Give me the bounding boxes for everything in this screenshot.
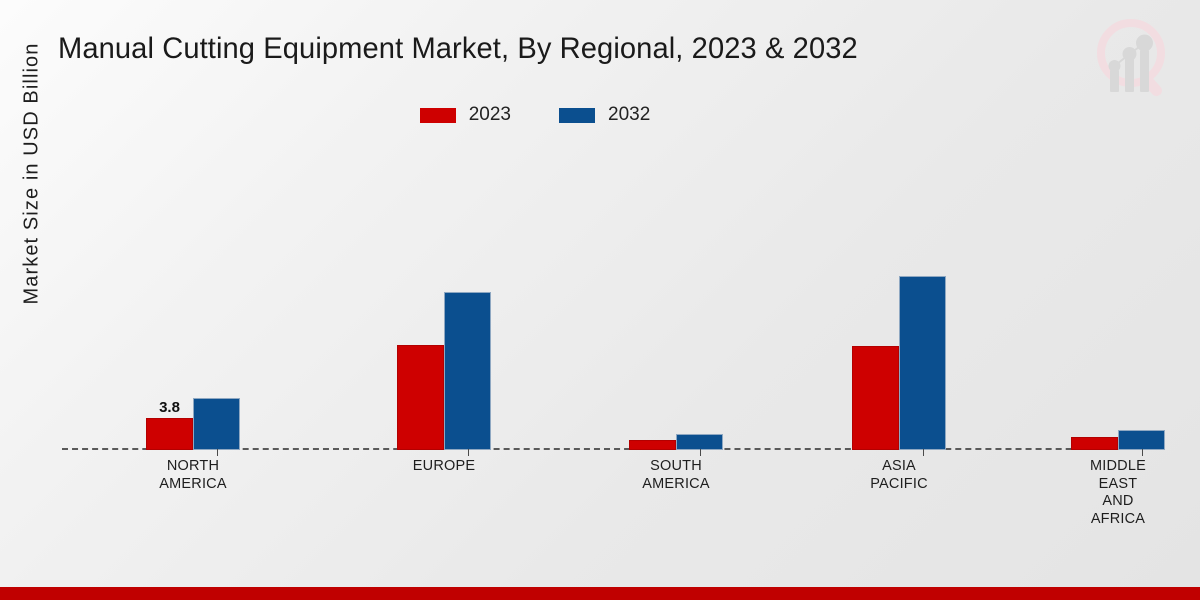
category-line: AFRICA bbox=[1091, 511, 1145, 527]
y-axis-title: Market Size in USD Billion bbox=[21, 4, 44, 344]
bar-group-bars: 3.8 bbox=[98, 150, 288, 450]
axis-tick bbox=[468, 449, 469, 456]
axis-tick bbox=[700, 449, 701, 456]
bar-group-bars bbox=[349, 150, 539, 450]
chart-title: Manual Cutting Equipment Market, By Regi… bbox=[58, 32, 858, 66]
category-label-middle-east-and-africa: MIDDLE EAST AND AFRICA bbox=[1023, 458, 1200, 528]
legend-swatch-2032 bbox=[559, 108, 595, 123]
bar-group-bars bbox=[804, 150, 994, 450]
category-line: PACIFIC bbox=[870, 476, 928, 492]
chart-legend: 2023 2032 bbox=[0, 104, 1200, 126]
legend-item-2032[interactable]: 2032 bbox=[559, 104, 650, 126]
category-line: EAST bbox=[1099, 476, 1138, 492]
bar-middle-east-and-africa-2023[interactable] bbox=[1071, 437, 1118, 450]
category-line: ASIA bbox=[882, 458, 916, 474]
bar-north-america-2032[interactable] bbox=[193, 398, 240, 450]
bar-north-america-2023[interactable]: 3.8 bbox=[146, 418, 193, 450]
category-line: NORTH bbox=[167, 458, 219, 474]
category-line: AMERICA bbox=[642, 476, 709, 492]
bar-group-bars bbox=[1023, 150, 1200, 450]
bar-south-america-2032[interactable] bbox=[676, 434, 723, 450]
legend-label-2032: 2032 bbox=[608, 104, 650, 126]
axis-tick bbox=[923, 449, 924, 456]
chart-figure: Manual Cutting Equipment Market, By Regi… bbox=[0, 0, 1200, 600]
legend-label-2023: 2023 bbox=[469, 104, 511, 126]
bar-group-europe: EUROPE bbox=[349, 150, 539, 450]
category-line: EUROPE bbox=[413, 458, 475, 474]
watermark-logo bbox=[1084, 8, 1188, 112]
bar-group-asia-pacific: ASIA PACIFIC bbox=[804, 150, 994, 450]
bar-asia-pacific-2032[interactable] bbox=[899, 276, 946, 450]
bar-middle-east-and-africa-2032[interactable] bbox=[1118, 430, 1165, 450]
bar-value-north-america-2023: 3.8 bbox=[159, 399, 180, 416]
category-label-asia-pacific: ASIA PACIFIC bbox=[804, 458, 994, 493]
category-line: AMERICA bbox=[159, 476, 226, 492]
category-line: MIDDLE bbox=[1090, 458, 1146, 474]
bar-europe-2032[interactable] bbox=[444, 292, 491, 450]
bar-group-south-america: SOUTH AMERICA bbox=[581, 150, 771, 450]
bar-group-bars bbox=[581, 150, 771, 450]
axis-tick bbox=[1142, 449, 1143, 456]
bar-asia-pacific-2023[interactable] bbox=[852, 346, 899, 450]
category-label-south-america: SOUTH AMERICA bbox=[581, 458, 771, 493]
bar-group-middle-east-and-africa: MIDDLE EAST AND AFRICA bbox=[1023, 150, 1200, 450]
plot-area: 3.8 NORTH AMERICA EUROPE bbox=[62, 150, 1190, 450]
category-line: AND bbox=[1102, 493, 1133, 509]
legend-item-2023[interactable]: 2023 bbox=[420, 104, 511, 126]
category-label-north-america: NORTH AMERICA bbox=[98, 458, 288, 493]
bar-group-north-america: 3.8 NORTH AMERICA bbox=[98, 150, 288, 450]
axis-tick bbox=[217, 449, 218, 456]
legend-swatch-2023 bbox=[420, 108, 456, 123]
category-line: SOUTH bbox=[650, 458, 702, 474]
bar-south-america-2023[interactable] bbox=[629, 440, 676, 450]
bar-europe-2023[interactable] bbox=[397, 345, 444, 450]
footer-accent-bar bbox=[0, 587, 1200, 600]
category-label-europe: EUROPE bbox=[349, 458, 539, 476]
